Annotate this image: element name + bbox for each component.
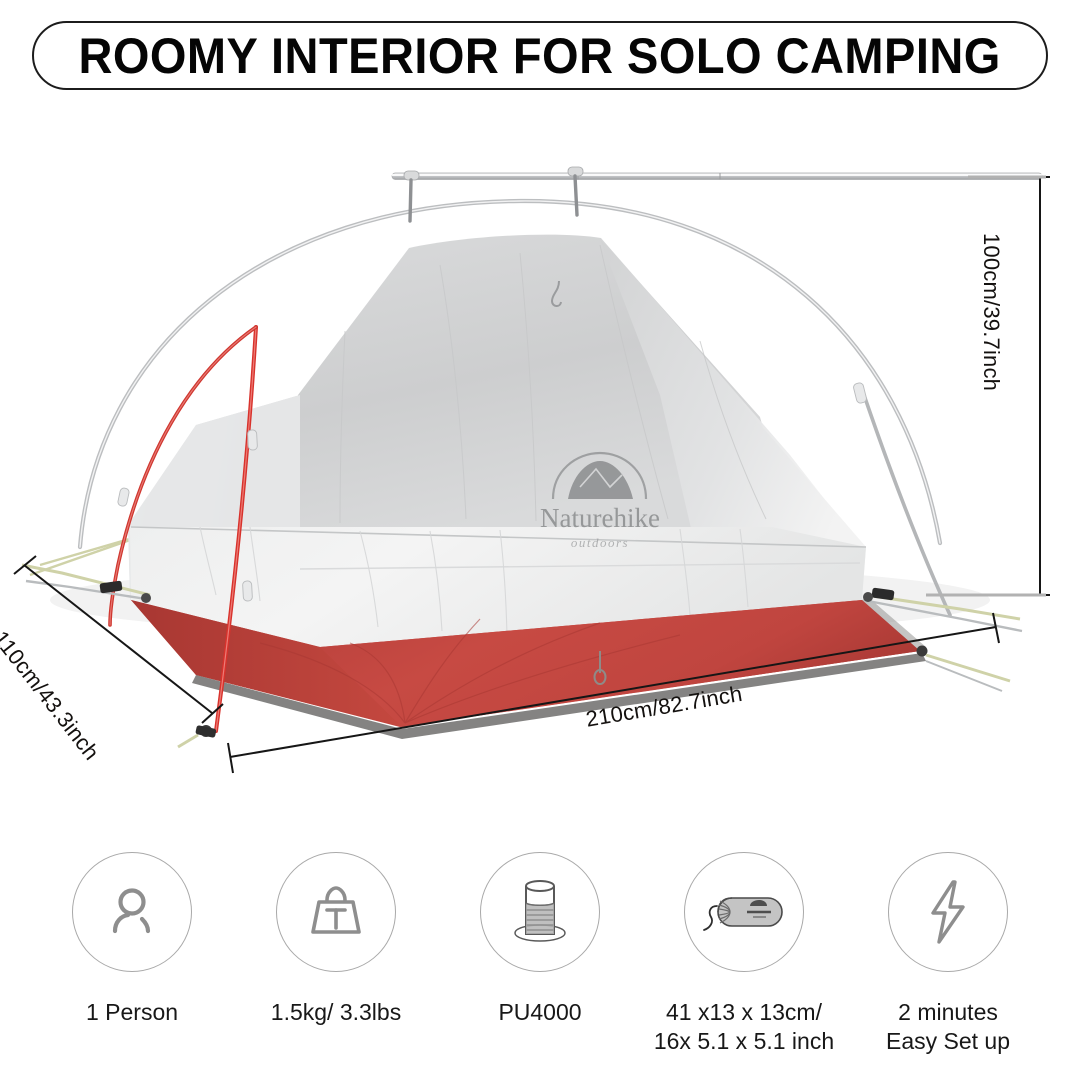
water-column-icon xyxy=(504,877,576,947)
weight-bag-icon xyxy=(303,881,369,943)
lightning-bolt-icon xyxy=(921,877,975,947)
spec-label-waterproof: PU4000 xyxy=(498,998,581,1027)
product-infographic: ROOMY INTERIOR FOR SOLO CAMPING xyxy=(0,0,1080,1080)
title-banner: ROOMY INTERIOR FOR SOLO CAMPING xyxy=(32,21,1048,90)
dimension-label-height: 100cm/39.7inch xyxy=(978,233,1004,391)
spec-item-setup-time: 2 minutes Easy Set up xyxy=(850,852,1046,1057)
spec-circle xyxy=(480,852,600,972)
tent-illustration: Naturehike outdoors xyxy=(0,95,1080,825)
spec-item-packed-size: 41 x13 x 13cm/ 16x 5.1 x 5.1 inch xyxy=(646,852,842,1057)
spec-item-capacity: 1 Person xyxy=(34,852,230,1027)
pole-clip xyxy=(568,167,583,215)
spec-item-waterproof: PU4000 xyxy=(442,852,638,1027)
brand-name: Naturehike xyxy=(540,503,660,533)
dimension-line-height xyxy=(1030,177,1050,595)
stake-corner-front xyxy=(178,725,217,747)
spec-circle xyxy=(684,852,804,972)
spec-label-weight: 1.5kg/ 3.3lbs xyxy=(271,998,401,1027)
spec-label-capacity: 1 Person xyxy=(86,998,178,1027)
tent-product-image: Naturehike outdoors xyxy=(0,95,1080,825)
spec-item-weight: 1.5kg/ 3.3lbs xyxy=(238,852,434,1027)
brand-tagline: outdoors xyxy=(571,535,629,550)
stake-corner-right-bottom xyxy=(917,646,1011,692)
ridge-pole xyxy=(392,173,1042,180)
spec-circle xyxy=(276,852,396,972)
stuff-sack-icon xyxy=(698,884,790,940)
spec-label-setup-time: 2 minutes Easy Set up xyxy=(886,998,1010,1057)
spec-label-packed-size: 41 x13 x 13cm/ 16x 5.1 x 5.1 inch xyxy=(654,998,834,1057)
spec-circle xyxy=(72,852,192,972)
person-icon xyxy=(101,881,163,943)
spec-circle xyxy=(888,852,1008,972)
page-title: ROOMY INTERIOR FOR SOLO CAMPING xyxy=(79,31,1001,81)
spec-row: 1 Person 1.5kg/ 3.3lbs xyxy=(0,852,1080,1080)
